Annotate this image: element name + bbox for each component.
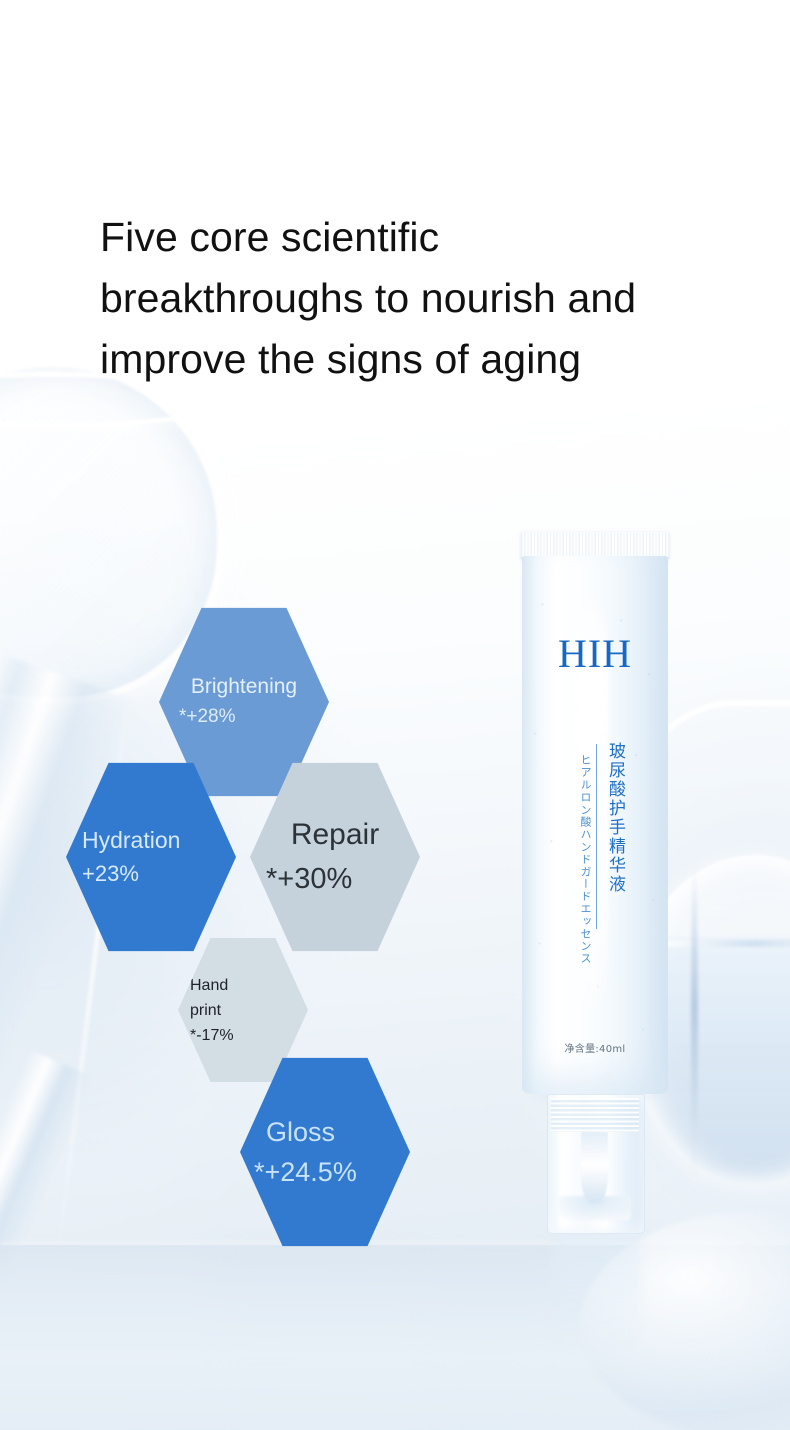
- hexagon-gloss-label: Gloss: [252, 1112, 398, 1152]
- hexagon-gloss-value: *+24.5%: [252, 1152, 398, 1192]
- hexagon-brightening-value: *+28%: [173, 702, 315, 732]
- hexagon-handprint-value: *-17%: [190, 1023, 296, 1048]
- hexagon-hydration-value: +23%: [82, 857, 220, 891]
- page-title: Five core scientific breakthroughs to no…: [100, 207, 700, 390]
- promo-page: Five core scientific breakthroughs to no…: [0, 0, 790, 1430]
- tube-reflection: [551, 1232, 641, 1352]
- hexagon-brightening-label: Brightening: [173, 672, 315, 702]
- glass-jar-edge-right: [691, 860, 698, 1190]
- hexagon-handprint-label-line1: Hand: [190, 973, 296, 998]
- tube-cap-ribs: [551, 1098, 639, 1132]
- tube-cap-base: [559, 1196, 631, 1220]
- hexagon-handprint-label-line2: print: [190, 998, 296, 1023]
- hexagon-repair-value: *+30%: [266, 857, 404, 901]
- product-net-content: 净含量:40ml: [515, 1040, 675, 1055]
- tube-divider-line: [596, 744, 597, 929]
- tube-cap-applicator: [581, 1132, 608, 1204]
- product-name-chinese: 玻尿酸护手精华液: [603, 742, 628, 894]
- product-tube: HIH 玻尿酸护手精华液 ヒアルロン酸ハンドガードエッセンス 净含量:40ml: [515, 532, 675, 1262]
- water-line-right: [660, 940, 790, 947]
- hexagon-hydration-label: Hydration: [82, 823, 220, 857]
- product-name-japanese: ヒアルロン酸ハンドガードエッセンス: [577, 754, 593, 965]
- tube-crimp-seal: [521, 532, 669, 559]
- hexagon-repair-label: Repair: [266, 813, 404, 857]
- product-brand-logo: HIH: [515, 630, 675, 677]
